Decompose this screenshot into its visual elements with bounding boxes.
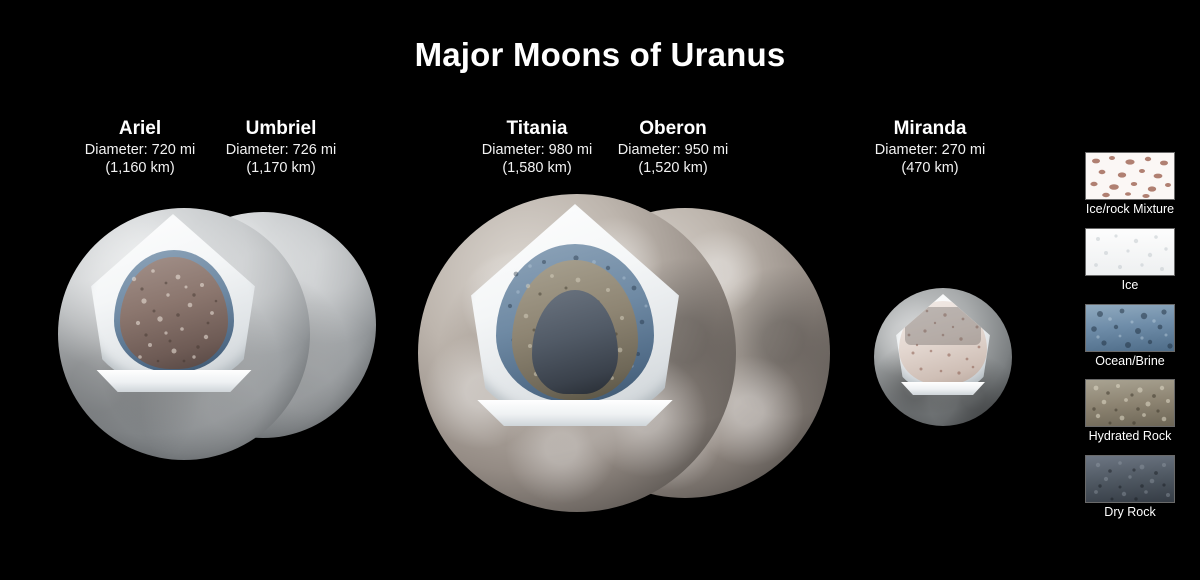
- ice-rock-texture: [899, 301, 987, 385]
- moon-body-miranda: [874, 288, 1012, 426]
- legend-item-dry-rock: Dry Rock: [1070, 455, 1190, 520]
- cutaway-floor-miranda: [893, 382, 993, 395]
- legend-item-hydrated-rock: Hydrated Rock: [1070, 379, 1190, 444]
- moon-diameter-km: (1,520 km): [573, 160, 773, 177]
- moon-label-umbriel: Umbriel Diameter: 726 mi (1,170 km): [181, 118, 381, 177]
- moon-diameter-mi: Diameter: 270 mi: [830, 142, 1030, 159]
- moon-diameter-mi: Diameter: 950 mi: [573, 142, 773, 159]
- moon-body-ariel: [58, 208, 310, 460]
- moon-label-oberon: Oberon Diameter: 950 mi (1,520 km): [573, 118, 773, 177]
- ocean-swatch-texture: [1086, 305, 1174, 351]
- cutaway-floor-ariel: [86, 370, 262, 392]
- moon-name: Oberon: [573, 118, 773, 140]
- legend-item-ocean-brine: Ocean/Brine: [1070, 304, 1190, 369]
- legend-item-ice: Ice: [1070, 228, 1190, 293]
- ice-rock-swatch-texture: [1086, 153, 1174, 199]
- moon-body-titania: [418, 194, 736, 512]
- legend-swatch-ice-rock-mixture: [1085, 152, 1175, 200]
- legend-swatch-ocean-brine: [1085, 304, 1175, 352]
- dry-rock-swatch-texture: [1086, 456, 1174, 502]
- legend-label: Ocean/Brine: [1070, 355, 1190, 369]
- layer-ice-rock-mixture-miranda: [899, 301, 987, 385]
- legend-swatch-hydrated-rock: [1085, 379, 1175, 427]
- cutaway-floor-titania: [464, 400, 686, 426]
- hydrated-rock-swatch-texture: [1086, 380, 1174, 426]
- moon-diameter-km: (1,170 km): [181, 160, 381, 177]
- moon-name: Umbriel: [181, 118, 381, 140]
- page-title: Major Moons of Uranus: [0, 36, 1200, 74]
- infographic-canvas: Major Moons of Uranus: [0, 0, 1200, 580]
- material-legend: Ice/rock Mixture Ice: [1070, 152, 1190, 531]
- legend-label: Ice/rock Mixture: [1070, 203, 1190, 217]
- ice-swatch-texture: [1086, 229, 1174, 275]
- legend-label: Hydrated Rock: [1070, 430, 1190, 444]
- legend-swatch-ice: [1085, 228, 1175, 276]
- moon-name: Miranda: [830, 118, 1030, 140]
- moon-label-miranda: Miranda Diameter: 270 mi (470 km): [830, 118, 1030, 177]
- cutaway-miranda: [892, 294, 994, 392]
- moon-diameter-km: (470 km): [830, 160, 1030, 177]
- legend-label: Ice: [1070, 279, 1190, 293]
- legend-item-ice-rock-mixture: Ice/rock Mixture: [1070, 152, 1190, 217]
- cutaway-titania: [462, 204, 688, 422]
- moon-diameter-mi: Diameter: 726 mi: [181, 142, 381, 159]
- legend-swatch-dry-rock: [1085, 455, 1175, 503]
- cutaway-ariel: [84, 214, 262, 386]
- legend-label: Dry Rock: [1070, 506, 1190, 520]
